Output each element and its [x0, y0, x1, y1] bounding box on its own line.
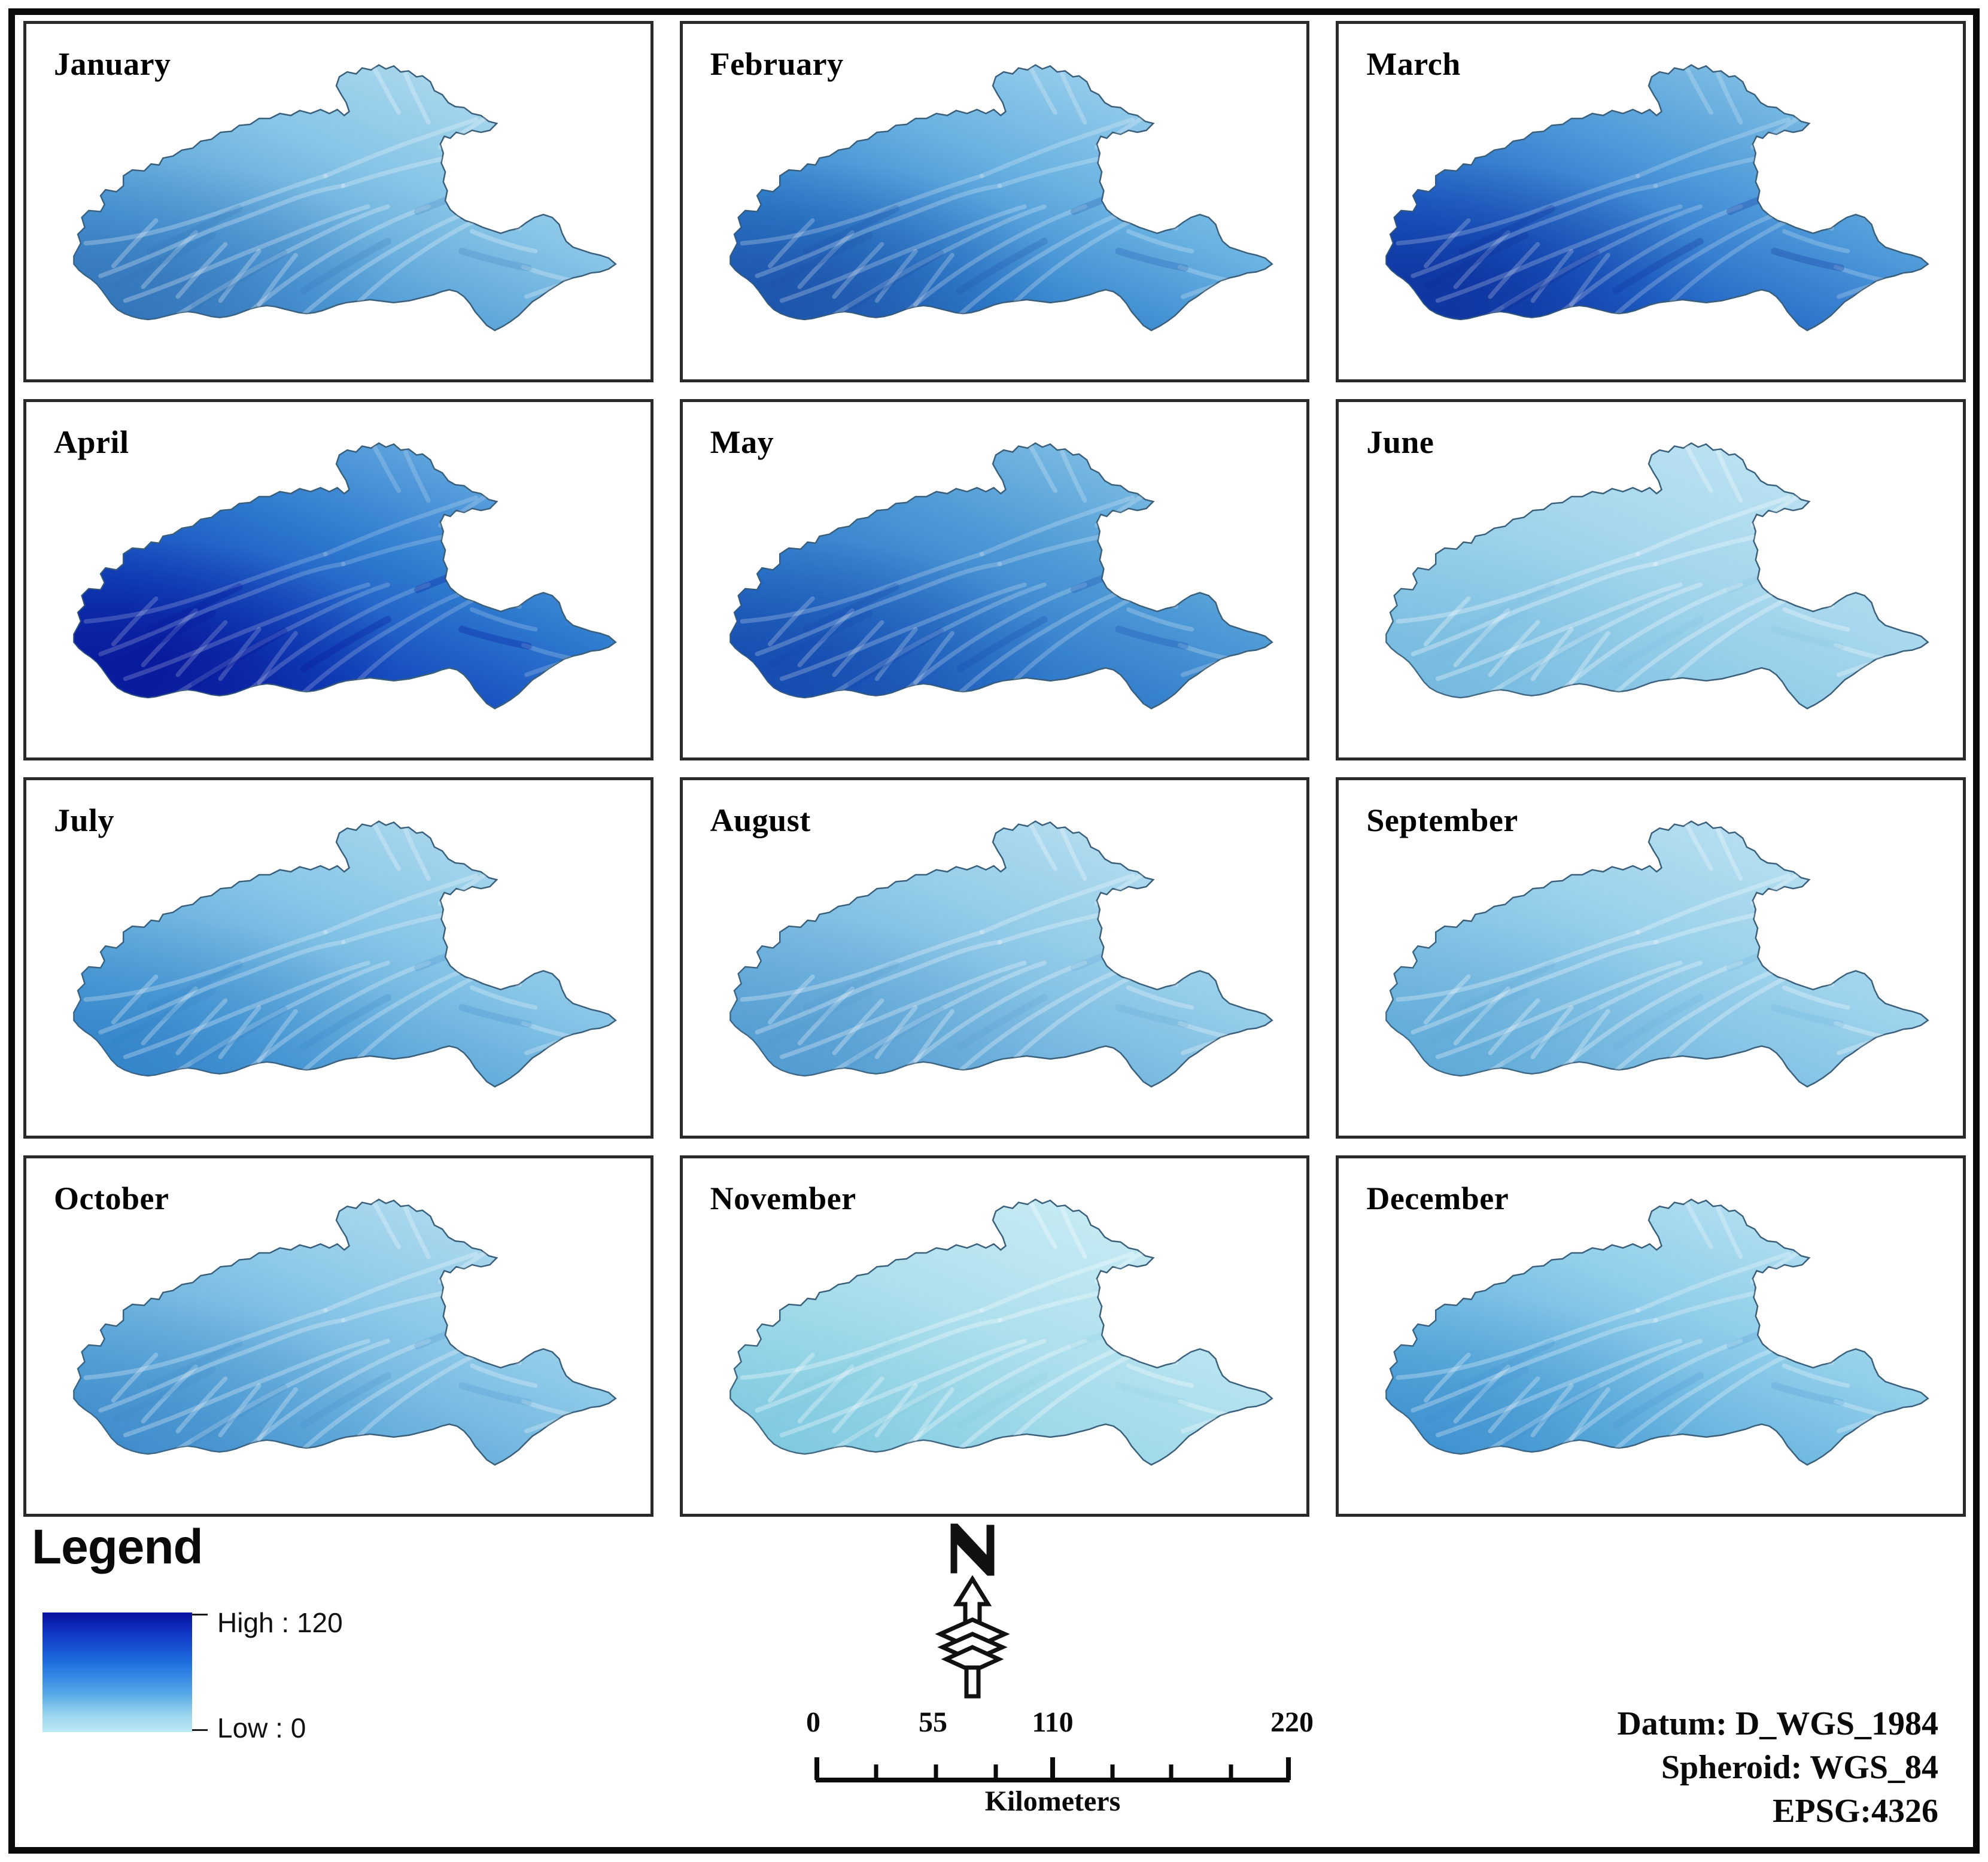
scale-tick-label-110: 110 — [1032, 1706, 1073, 1739]
map-panel-title-february: February — [710, 45, 844, 83]
legend-tick-low — [192, 1729, 208, 1731]
scale-bar-units-label: Kilometers — [813, 1785, 1292, 1818]
map-panel-title-september: September — [1366, 802, 1518, 839]
map-panel-title-november: November — [710, 1180, 856, 1217]
north-arrow-icon — [909, 1517, 1041, 1702]
map-panel-title-may: May — [710, 424, 774, 461]
map-panel-may[interactable]: May — [680, 399, 1310, 760]
scale-tick-label-0: 0 — [806, 1706, 820, 1739]
epsg-line: EPSG:4326 — [1617, 1790, 1938, 1833]
legend-color-ramp — [42, 1612, 192, 1732]
map-panel-september[interactable]: September — [1336, 777, 1966, 1139]
legend-tick-high — [192, 1614, 208, 1615]
map-panel-january[interactable]: January — [23, 21, 653, 382]
datum-line: Datum: D_WGS_1984 — [1617, 1702, 1938, 1746]
scale-bar-ticks — [813, 1748, 1292, 1785]
map-panel-july[interactable]: July — [23, 777, 653, 1139]
map-panel-title-march: March — [1366, 45, 1460, 83]
map-panel-february[interactable]: February — [680, 21, 1310, 382]
legend-low-label: Low : 0 — [217, 1712, 306, 1744]
map-panel-title-december: December — [1366, 1180, 1509, 1217]
monthly-map-grid: JanuaryFebruaryMarchAprilMayJuneJulyAugu… — [23, 21, 1966, 1517]
map-panel-october[interactable]: October — [23, 1155, 653, 1517]
legend-high-label: High : 120 — [217, 1607, 343, 1639]
map-panel-title-june: June — [1366, 424, 1434, 461]
map-panel-title-august: August — [710, 802, 811, 839]
figure-outer-frame: JanuaryFebruaryMarchAprilMayJuneJulyAugu… — [8, 8, 1980, 1854]
map-panel-title-july: July — [54, 802, 114, 839]
legend: Legend High : 120 Low : 0 — [32, 1523, 463, 1834]
legend-color-ramp-wrapper — [42, 1612, 192, 1732]
map-panel-december[interactable]: December — [1336, 1155, 1966, 1517]
spheroid-line: Spheroid: WGS_84 — [1617, 1746, 1938, 1790]
map-panel-april[interactable]: April — [23, 399, 653, 760]
basin-map-may — [683, 402, 1307, 757]
scale-bar: 0 55 110 220 Kilometers — [813, 1706, 1292, 1826]
map-panel-august[interactable]: August — [680, 777, 1310, 1139]
map-panel-june[interactable]: June — [1336, 399, 1966, 760]
basin-map-july — [26, 780, 650, 1136]
map-panel-title-april: April — [54, 424, 129, 461]
scale-tick-label-55: 55 — [919, 1706, 947, 1739]
scale-tick-label-220: 220 — [1270, 1706, 1314, 1739]
legend-title: Legend — [32, 1523, 463, 1572]
north-arrow-and-scale-bar: 0 55 110 220 Kilometers — [729, 1517, 1268, 1840]
map-furniture-bar: Legend High : 120 Low : 0 — [23, 1523, 1966, 1846]
map-panel-title-october: October — [54, 1180, 169, 1217]
map-panel-title-january: January — [54, 45, 171, 83]
map-panel-march[interactable]: March — [1336, 21, 1966, 382]
map-panel-november[interactable]: November — [680, 1155, 1310, 1517]
projection-info: Datum: D_WGS_1984 Spheroid: WGS_84 EPSG:… — [1617, 1702, 1938, 1833]
